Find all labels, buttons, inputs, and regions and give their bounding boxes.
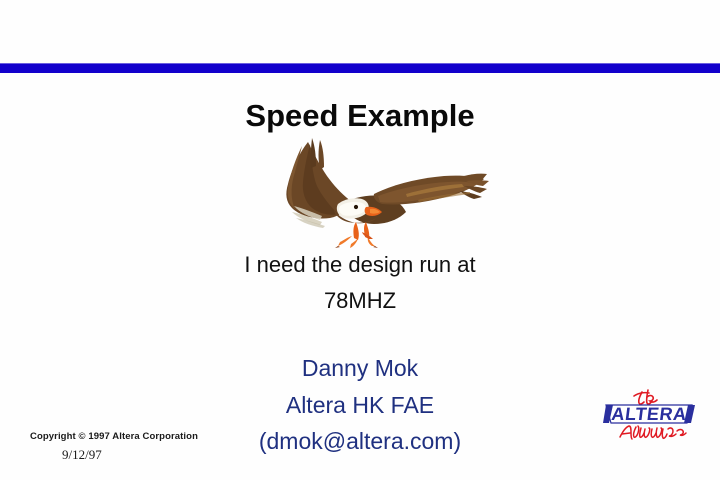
slide-title: Speed Example <box>0 98 720 134</box>
statement-line-1: I need the design run at <box>0 252 720 278</box>
slide-date: 9/12/97 <box>62 447 102 463</box>
top-blue-rule <box>0 64 720 73</box>
svg-text:ALTERA: ALTERA <box>610 404 688 424</box>
copyright-notice: Copyright © 1997 Altera Corporation <box>30 431 198 442</box>
presenter-name: Danny Mok <box>0 355 720 382</box>
presentation-slide: Speed Example <box>0 0 720 480</box>
statement-line-2: 78MHZ <box>0 288 720 314</box>
flying-eagle-illustration <box>278 136 490 248</box>
altera-advantage-logo: ALTERA <box>603 383 695 441</box>
